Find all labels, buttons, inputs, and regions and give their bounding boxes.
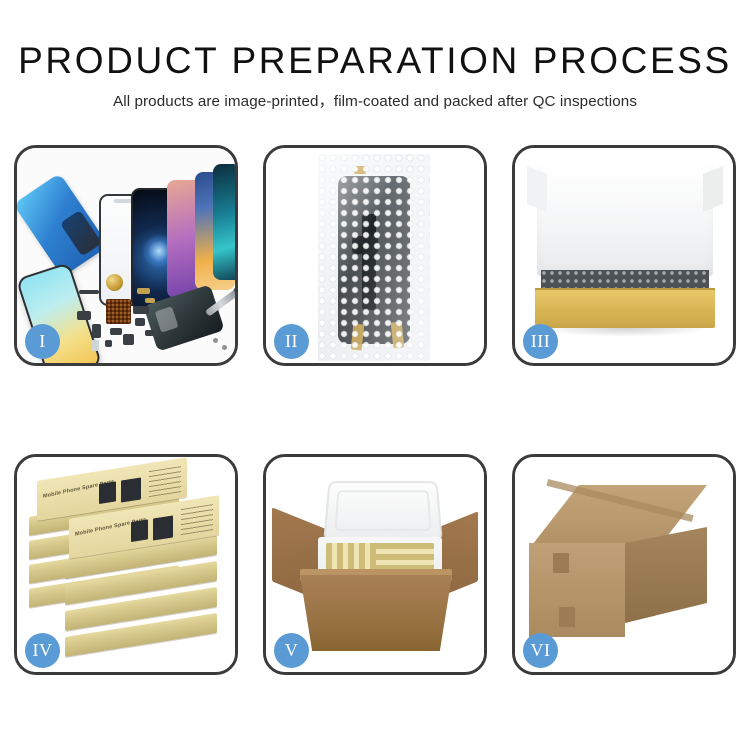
small-part <box>91 340 99 351</box>
step-panel-5: V <box>263 454 487 675</box>
step-panel-2: II <box>263 145 487 366</box>
step-panel-3: III <box>512 145 736 366</box>
drop-shadow <box>539 328 711 337</box>
carton-tape <box>559 607 575 627</box>
small-part <box>105 340 112 347</box>
carton-tape <box>553 553 569 573</box>
small-part <box>137 288 150 294</box>
small-part <box>123 334 134 345</box>
foam-box-lid <box>323 481 443 541</box>
step-badge-3: III <box>523 324 558 359</box>
step-panel-1: I <box>14 145 238 366</box>
bubble-wrap-bag <box>318 154 430 361</box>
small-part <box>92 324 101 338</box>
small-part <box>145 298 155 303</box>
label-screen-photo <box>153 515 173 540</box>
screw-part <box>222 345 227 350</box>
white-box-lid <box>537 166 713 276</box>
page-header: PRODUCT PREPARATION PROCESS All products… <box>0 0 750 109</box>
label-screen-photo <box>131 519 148 542</box>
gold-coil-part <box>106 274 123 291</box>
step-panel-4: Mobile Phone Spare Parts Mobile Phone Sp… <box>14 454 238 675</box>
small-part <box>79 290 99 294</box>
step-badge-2: II <box>274 324 309 359</box>
label-spec-lines <box>181 504 213 535</box>
process-steps-grid: I II <box>14 145 736 675</box>
label-spec-lines <box>149 466 181 497</box>
chip-grid-part <box>106 299 131 324</box>
phone-teal-display <box>213 164 235 280</box>
carton-face-left <box>529 543 625 637</box>
preparation-process-page: PRODUCT PREPARATION PROCESS All products… <box>0 0 750 750</box>
step-badge-4: IV <box>25 633 60 668</box>
small-part <box>133 306 149 314</box>
small-part <box>135 318 145 326</box>
small-part <box>77 311 91 320</box>
screw-part <box>213 338 218 343</box>
step-badge-6: VI <box>523 633 558 668</box>
label-screen-photo <box>99 481 116 504</box>
small-part <box>110 328 122 335</box>
blue-screen-film <box>17 173 109 277</box>
carton-body <box>300 575 452 651</box>
small-part <box>145 330 154 336</box>
page-title: PRODUCT PREPARATION PROCESS <box>0 0 750 79</box>
step-panel-6: VI <box>512 454 736 675</box>
step-badge-5: V <box>274 633 309 668</box>
label-screen-photo <box>121 477 141 502</box>
carton-face-right <box>625 527 707 623</box>
step-badge-1: I <box>25 324 60 359</box>
plastic-gloss <box>318 154 430 361</box>
page-subtitle: All products are image-printed，film-coat… <box>0 79 750 109</box>
kraft-box-front <box>535 290 715 328</box>
